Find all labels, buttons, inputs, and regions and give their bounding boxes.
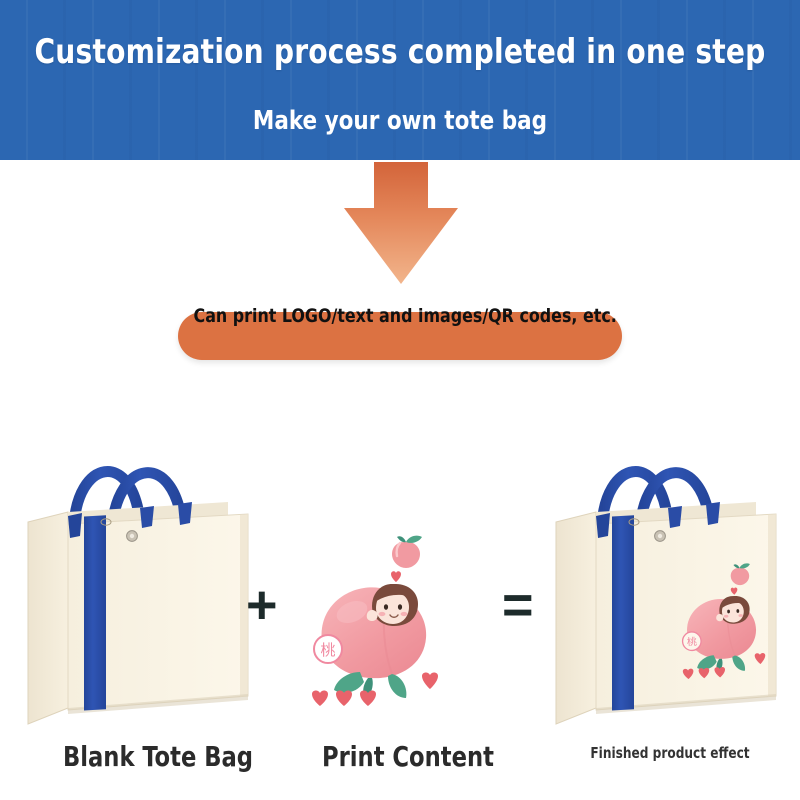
finished-tote-bag-image[interactable]: 桃 <box>550 424 800 734</box>
print-content-artwork[interactable]: 桃 <box>296 512 466 712</box>
caption-finished-product: Finished product effect <box>571 744 769 762</box>
page-title: Customization process completed in one s… <box>32 32 768 72</box>
header-texture <box>0 0 800 160</box>
svg-text:桃: 桃 <box>320 641 335 659</box>
caption-blank-tote-bag: Blank Tote Bag <box>41 740 275 773</box>
header-banner: Customization process completed in one s… <box>0 0 800 160</box>
small-peach <box>392 536 422 568</box>
page-subtitle: Make your own tote bag <box>32 106 768 136</box>
svg-text:桃: 桃 <box>687 635 698 649</box>
down-arrow-icon <box>338 162 464 290</box>
equals-operator: = <box>502 578 534 632</box>
tote-bag-customization-poster: Customization process completed in one s… <box>0 0 800 800</box>
heart-small-1 <box>391 571 401 582</box>
caption-print-content: Print Content <box>300 740 516 773</box>
plus-operator: + <box>246 578 278 632</box>
heart-small-2 <box>422 672 438 689</box>
blank-tote-bag-image[interactable] <box>22 424 272 734</box>
print-capability-label: Can print LOGO/text and images/QR codes,… <box>194 305 607 327</box>
peach-stamp: 桃 <box>314 635 342 663</box>
